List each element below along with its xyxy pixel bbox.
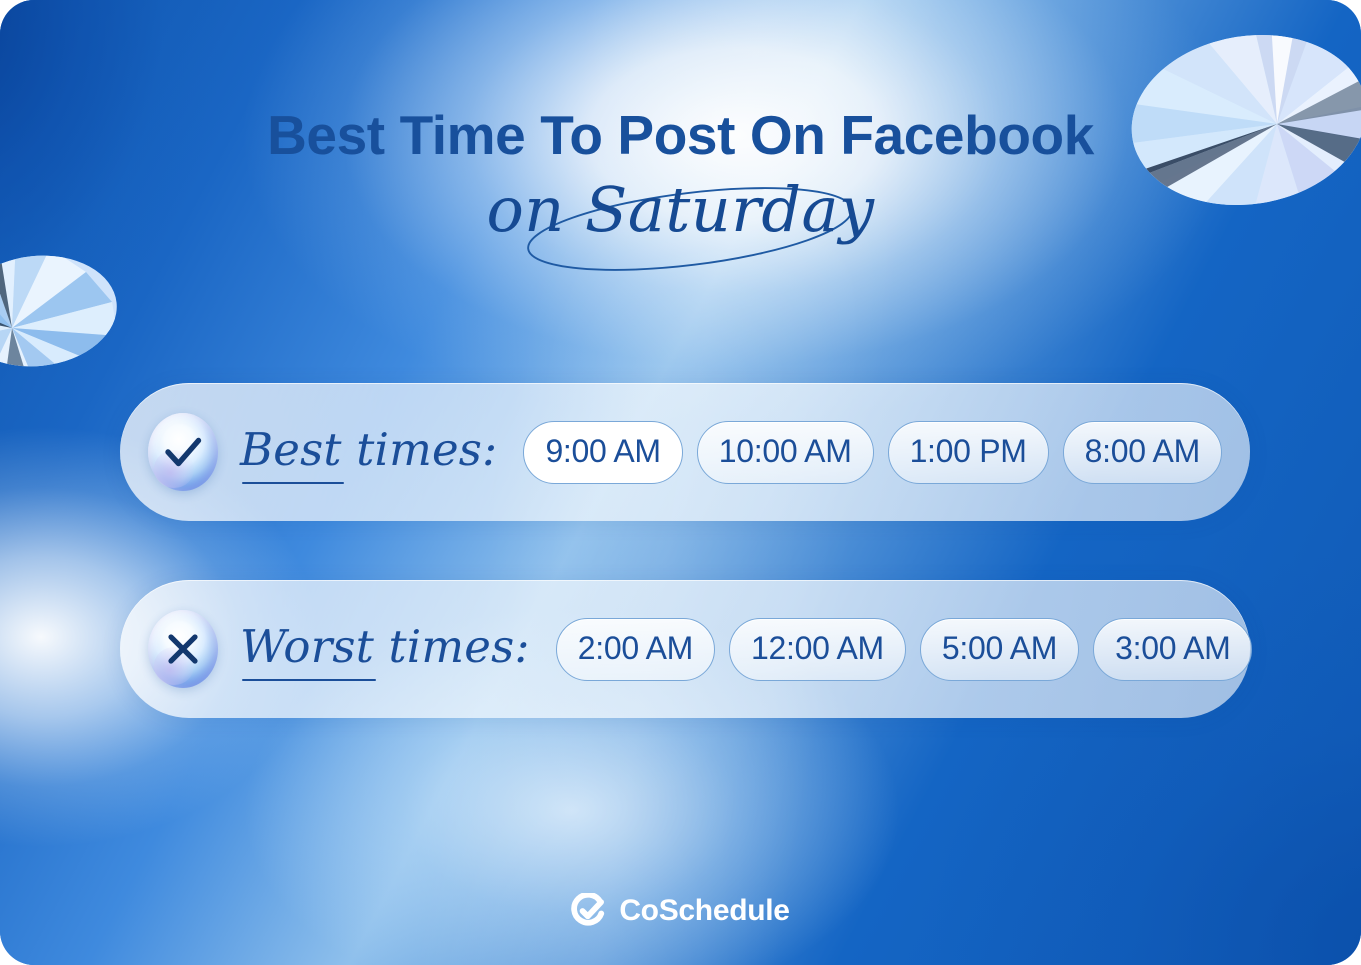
x-sphere bbox=[148, 610, 218, 688]
best-times-label: Best times: bbox=[240, 423, 497, 482]
worst-times-label-keyword: Worst bbox=[240, 620, 374, 673]
time-rows: Best times: 9:00 AM 10:00 AM 1:00 PM 8:0… bbox=[120, 383, 1250, 718]
subtitle-container: on Saturday bbox=[440, 177, 920, 252]
worst-times-pill-group: 2:00 AM 12:00 AM 5:00 AM 3:00 AM bbox=[556, 618, 1253, 681]
worst-times-card: Worst times: 2:00 AM 12:00 AM 5:00 AM 3:… bbox=[120, 580, 1250, 718]
coschedule-wordmark: CoSchedule bbox=[619, 894, 789, 928]
best-times-pill-group: 9:00 AM 10:00 AM 1:00 PM 8:00 AM bbox=[523, 421, 1222, 484]
pinwheel-decoration-left bbox=[0, 252, 120, 370]
best-times-label-rest: times: bbox=[342, 423, 498, 476]
infographic-canvas: Best Time To Post On Facebook on Saturda… bbox=[0, 0, 1361, 965]
time-pill[interactable]: 3:00 AM bbox=[1093, 618, 1252, 681]
time-pill[interactable]: 8:00 AM bbox=[1063, 421, 1222, 484]
time-pill[interactable]: 1:00 PM bbox=[888, 421, 1049, 484]
time-pill[interactable]: 12:00 AM bbox=[729, 618, 906, 681]
worst-times-label: Worst times: bbox=[240, 620, 530, 679]
best-times-card: Best times: 9:00 AM 10:00 AM 1:00 PM 8:0… bbox=[120, 383, 1250, 521]
page-title: Best Time To Post On Facebook bbox=[0, 108, 1361, 163]
x-icon bbox=[148, 610, 218, 688]
coschedule-logo[interactable]: CoSchedule bbox=[0, 893, 1361, 928]
time-pill[interactable]: 9:00 AM bbox=[523, 421, 682, 484]
time-pill[interactable]: 2:00 AM bbox=[556, 618, 715, 681]
check-icon bbox=[148, 413, 218, 491]
coschedule-check-circle-icon bbox=[571, 893, 606, 928]
time-pill[interactable]: 5:00 AM bbox=[920, 618, 1079, 681]
header: Best Time To Post On Facebook on Saturda… bbox=[0, 0, 1361, 252]
check-sphere bbox=[148, 413, 218, 491]
best-times-label-keyword: Best bbox=[240, 423, 342, 476]
time-pill[interactable]: 10:00 AM bbox=[697, 421, 874, 484]
page-subtitle: on Saturday bbox=[486, 177, 874, 244]
worst-times-label-rest: times: bbox=[374, 620, 530, 673]
